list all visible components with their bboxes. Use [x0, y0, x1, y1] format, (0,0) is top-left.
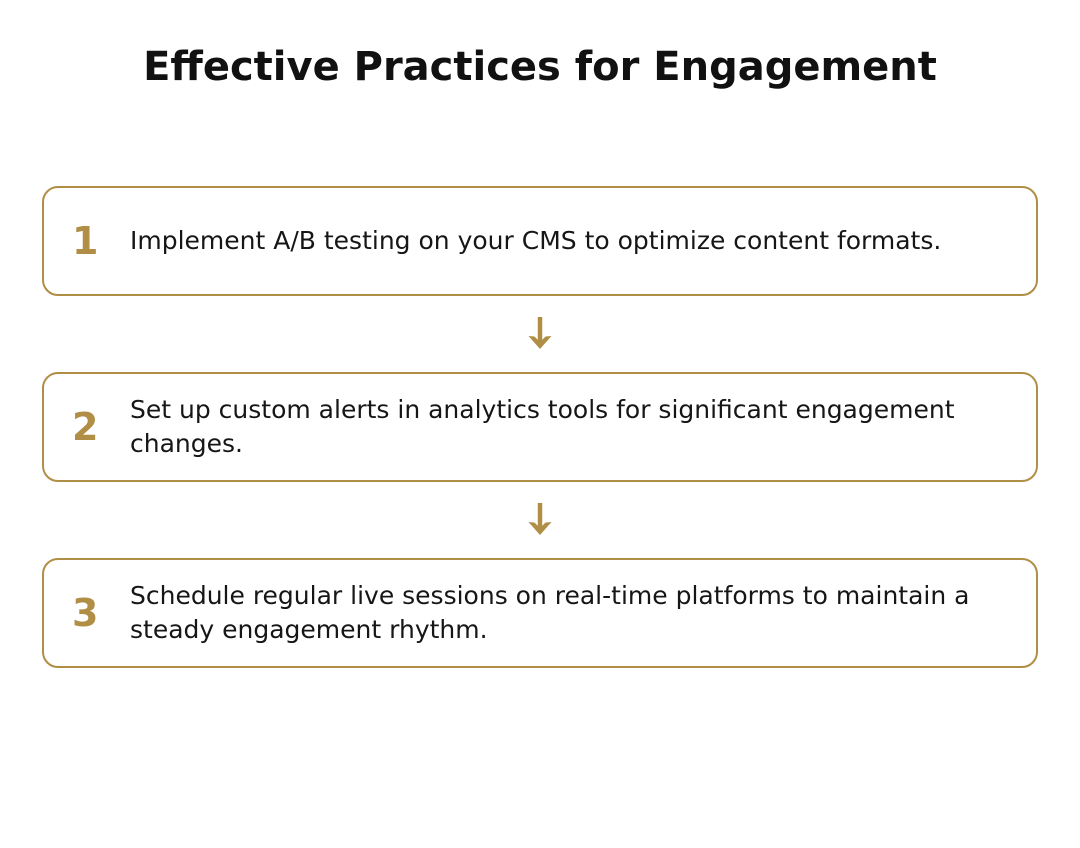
- steps-flow-list: 1 Implement A/B testing on your CMS to o…: [42, 186, 1038, 668]
- step-card-1: 1 Implement A/B testing on your CMS to o…: [42, 186, 1038, 296]
- step-card-3: 3 Schedule regular live sessions on real…: [42, 558, 1038, 668]
- step-number-1: 1: [70, 222, 130, 260]
- step-text-3: Schedule regular live sessions on real-t…: [130, 579, 1014, 648]
- step-text-1: Implement A/B testing on your CMS to opt…: [130, 224, 1014, 259]
- page-title: Effective Practices for Engagement: [0, 44, 1080, 90]
- step-number-3: 3: [70, 594, 130, 632]
- step-card-2: 2 Set up custom alerts in analytics tool…: [42, 372, 1038, 482]
- step-number-2: 2: [70, 408, 130, 446]
- arrow-down-icon: [525, 501, 555, 539]
- step-connector-1: [42, 296, 1038, 372]
- step-text-2: Set up custom alerts in analytics tools …: [130, 393, 1014, 462]
- arrow-down-icon: [525, 315, 555, 353]
- step-connector-2: [42, 482, 1038, 558]
- infographic-page: Effective Practices for Engagement 1 Imp…: [0, 0, 1080, 848]
